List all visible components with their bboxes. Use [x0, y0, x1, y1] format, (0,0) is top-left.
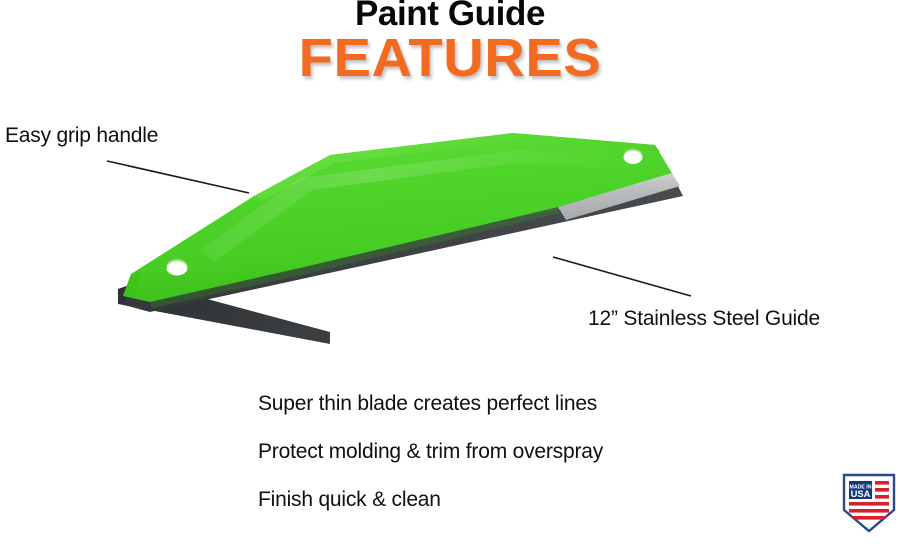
badge-stripes-right [875, 481, 889, 499]
annotation-easy-grip-handle: Easy grip handle [5, 124, 158, 148]
feature-item: Finish quick & clean [258, 488, 778, 512]
badge-stripes-lower [849, 502, 889, 520]
handle-hole-left [167, 259, 188, 276]
handle-face [123, 133, 672, 308]
made-in-usa-badge: MADE IN USA [841, 472, 897, 534]
badge-usa-text: USA [851, 488, 871, 499]
handle-hole-right [624, 149, 643, 165]
feature-item: Super thin blade creates perfect lines [258, 392, 778, 416]
annotation-stainless-steel-guide: 12” Stainless Steel Guide [588, 307, 820, 331]
feature-list: Super thin blade creates perfect lines P… [258, 392, 778, 536]
feature-item: Protect molding & trim from overspray [258, 440, 778, 464]
infographic-page: Paint Guide FEATURES [0, 0, 900, 550]
